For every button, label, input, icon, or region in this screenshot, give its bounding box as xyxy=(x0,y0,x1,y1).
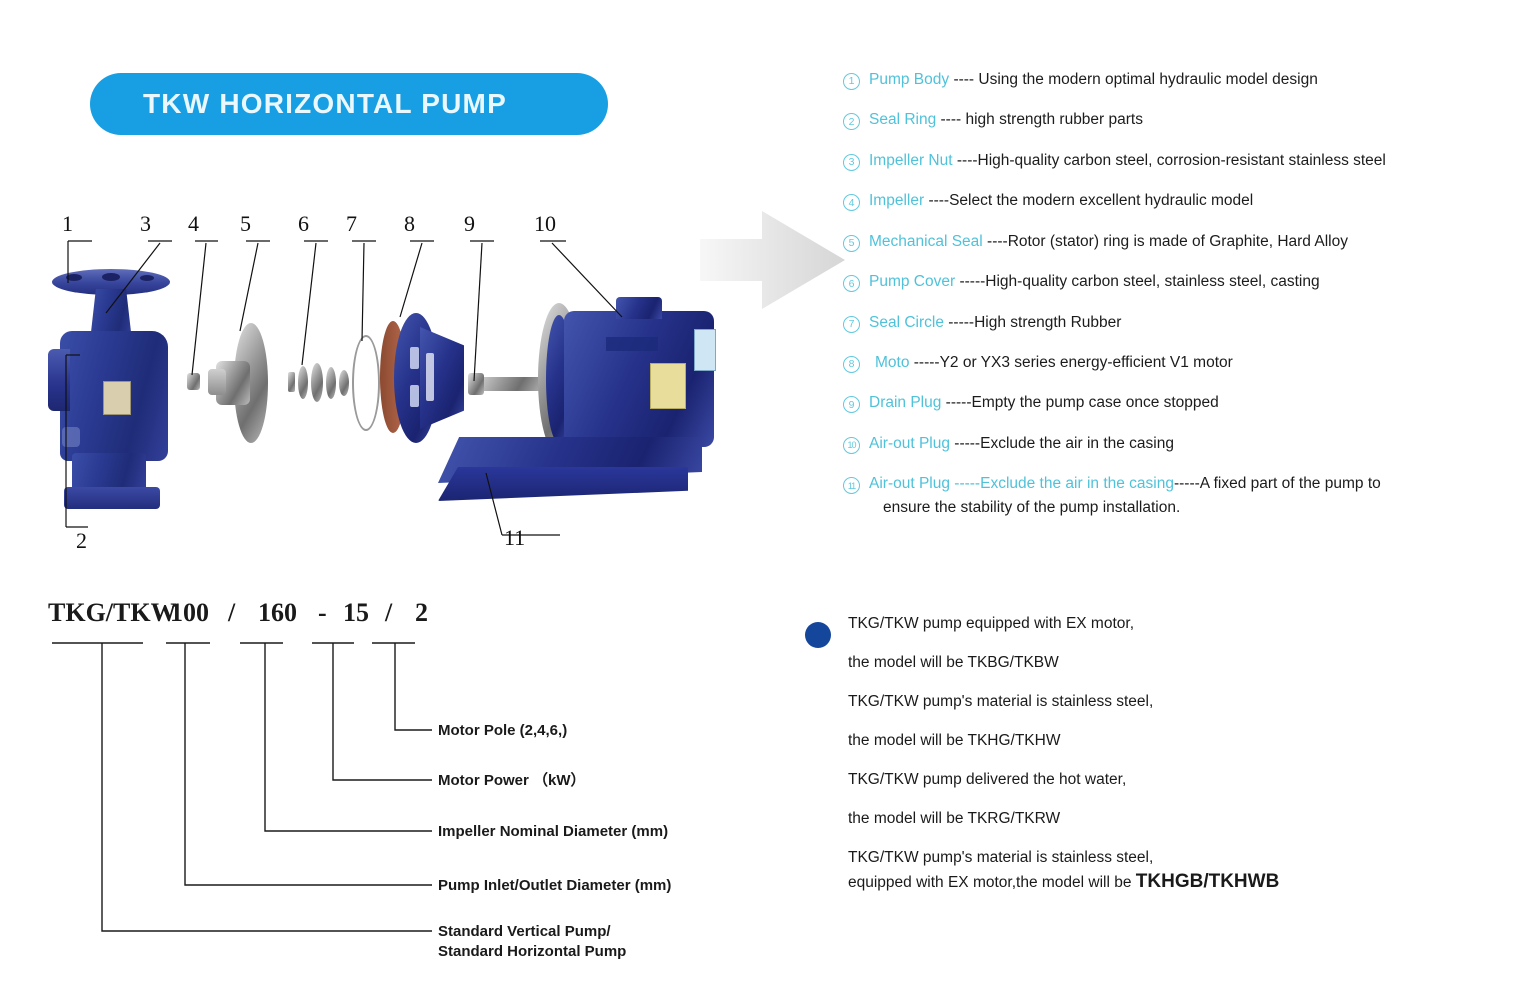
variant-line-2: the model will be TKBG/TKBW xyxy=(848,654,1405,672)
variant-line-6: the model will be TKRG/TKRW xyxy=(848,810,1405,828)
legend-item-6: 6 Pump Cover -----High-quality carbon st… xyxy=(843,272,1503,293)
legend-number-icon: 3 xyxy=(843,154,860,171)
variant-line-5: TKG/TKW pump delivered the hot water, xyxy=(848,771,1405,789)
legend-item-8: 8 Moto -----Y2 or YX3 series energy-effi… xyxy=(843,353,1503,374)
legend-part-desc: Y2 or YX3 series energy-efficient V1 mot… xyxy=(940,354,1233,371)
legend-part-name: Moto xyxy=(869,354,909,371)
legend-separator: ----- xyxy=(941,394,971,411)
model-variants-block: TKG/TKW pump equipped with EX motor, the… xyxy=(805,615,1405,914)
legend-item-10: 10 Air-out Plug -----Exclude the air in … xyxy=(843,434,1503,455)
legend-item-7: 7 Seal Circle -----High strength Rubber xyxy=(843,313,1503,334)
legend-item-4: 4 Impeller ----Select the modern excelle… xyxy=(843,191,1503,212)
legend-number-icon: 9 xyxy=(843,396,860,413)
legend-number-icon: 7 xyxy=(843,316,860,333)
legend-part-name: Impeller xyxy=(869,192,924,209)
legend-separator: ---- xyxy=(953,152,978,169)
legend-part-desc: A fixed part of the pump to xyxy=(1200,475,1381,492)
legend-part-name: Seal Circle xyxy=(869,314,944,331)
legend-number-icon: 11 xyxy=(843,477,860,494)
legend-separator: ----- xyxy=(955,273,985,290)
legend-number-icon: 1 xyxy=(843,73,860,90)
legend-number-icon: 8 xyxy=(843,356,860,373)
legend-part-name: Seal Ring xyxy=(869,111,936,128)
legend-separator: ---- xyxy=(924,192,949,209)
exploded-pump-diagram: 1 3 4 5 6 7 8 9 10 2 11 xyxy=(40,205,700,575)
variant-line-3: TKG/TKW pump's material is stainless ste… xyxy=(848,693,1405,711)
variant-line-4: the model will be TKHG/TKHW xyxy=(848,732,1405,750)
legend-part-desc: Rotor (stator) ring is made of Graphite,… xyxy=(1008,233,1348,250)
legend-separator: ----- xyxy=(950,435,980,452)
legend-number-icon: 2 xyxy=(843,113,860,130)
right-arrow-icon xyxy=(700,211,845,309)
legend-part-desc-cyan: Exclude the air in the casing xyxy=(980,475,1174,492)
variant-model-code: TKHGB/TKHWB xyxy=(1136,871,1280,892)
model-nomenclature-diagram: TKG/TKW 100 / 160 - 15 / 2 xyxy=(40,598,740,973)
legend-item-5: 5 Mechanical Seal ----Rotor (stator) rin… xyxy=(843,232,1503,253)
legend-item-9: 9 Drain Plug -----Empty the pump case on… xyxy=(843,393,1503,414)
variant-line-2-text: the model will be TKBG/TKBW xyxy=(848,654,1059,671)
legend-part-desc: High-quality carbon steel, corrosion-res… xyxy=(978,152,1386,169)
legend-number-icon: 4 xyxy=(843,194,860,211)
legend-number-icon: 5 xyxy=(843,235,860,252)
legend-separator: ---- xyxy=(949,71,978,88)
legend-separator: ----- xyxy=(944,314,974,331)
legend-separator: ----- xyxy=(950,475,980,492)
legend-part-desc: high strength rubber parts xyxy=(965,111,1143,128)
legend-part-name: Pump Body xyxy=(869,71,949,88)
legend-part-name: Mechanical Seal xyxy=(869,233,983,250)
nomen-label-impeller-dia: Impeller Nominal Diameter (mm) xyxy=(438,822,668,842)
legend-part-desc: Using the modern optimal hydraulic model… xyxy=(978,71,1317,88)
parts-legend: 1 Pump Body ---- Using the modern optima… xyxy=(843,70,1503,539)
flow-arrow xyxy=(700,205,845,315)
bullet-dot-icon xyxy=(805,622,831,648)
variant-line-8: equipped with EX motor,the model will be… xyxy=(848,871,1405,893)
legend-part-desc: High-quality carbon steel, stainless ste… xyxy=(985,273,1319,290)
nomen-label-standard-horizontal: Standard Horizontal Pump xyxy=(438,942,626,962)
page-title: TKW HORIZONTAL PUMP xyxy=(90,88,507,120)
legend-item-11: 11 Air-out Plug -----Exclude the air in … xyxy=(843,474,1503,519)
legend-number-icon: 10 xyxy=(843,437,860,454)
nomen-label-motor-power: Motor Power （kW） xyxy=(438,771,586,791)
legend-part-name: Air-out Plug xyxy=(869,435,950,452)
legend-part-name: Pump Cover xyxy=(869,273,955,290)
legend-part-desc-line2: ensure the stability of the pump install… xyxy=(869,498,1503,519)
legend-separator-2: ----- xyxy=(1174,475,1200,492)
variant-line-1: TKG/TKW pump equipped with EX motor, xyxy=(848,615,1405,633)
legend-separator: ---- xyxy=(936,111,965,128)
variant-line-8-text: equipped with EX motor,the model will be xyxy=(848,874,1136,891)
legend-part-name: Air-out Plug xyxy=(869,475,950,492)
legend-separator: ---- xyxy=(983,233,1008,250)
pump-spec-page: TKW HORIZONTAL PUMP 1 3 4 5 6 7 8 9 10 2… xyxy=(0,0,1513,1000)
legend-item-1: 1 Pump Body ---- Using the modern optima… xyxy=(843,70,1503,91)
legend-part-name: Drain Plug xyxy=(869,394,941,411)
nomen-label-standard-vertical: Standard Vertical Pump/ xyxy=(438,922,611,942)
legend-part-desc: High strength Rubber xyxy=(974,314,1121,331)
page-title-banner: TKW HORIZONTAL PUMP xyxy=(90,73,608,135)
nomenclature-leader-lines xyxy=(40,598,740,973)
legend-separator: ----- xyxy=(909,354,939,371)
nomen-label-motor-pole: Motor Pole (2,4,6,) xyxy=(438,721,567,741)
legend-part-desc: Select the modern excellent hydraulic mo… xyxy=(949,192,1253,209)
variant-line-7: TKG/TKW pump's material is stainless ste… xyxy=(848,849,1405,867)
nomen-label-inlet-outlet: Pump Inlet/Outlet Diameter (mm) xyxy=(438,876,671,896)
callout-leader-lines xyxy=(40,205,700,575)
legend-part-desc: Exclude the air in the casing xyxy=(980,435,1174,452)
legend-number-icon: 6 xyxy=(843,275,860,292)
legend-part-name: Impeller Nut xyxy=(869,152,953,169)
legend-item-2: 2 Seal Ring ---- high strength rubber pa… xyxy=(843,110,1503,131)
legend-item-3: 3 Impeller Nut ----High-quality carbon s… xyxy=(843,151,1503,172)
legend-part-desc: Empty the pump case once stopped xyxy=(972,394,1219,411)
